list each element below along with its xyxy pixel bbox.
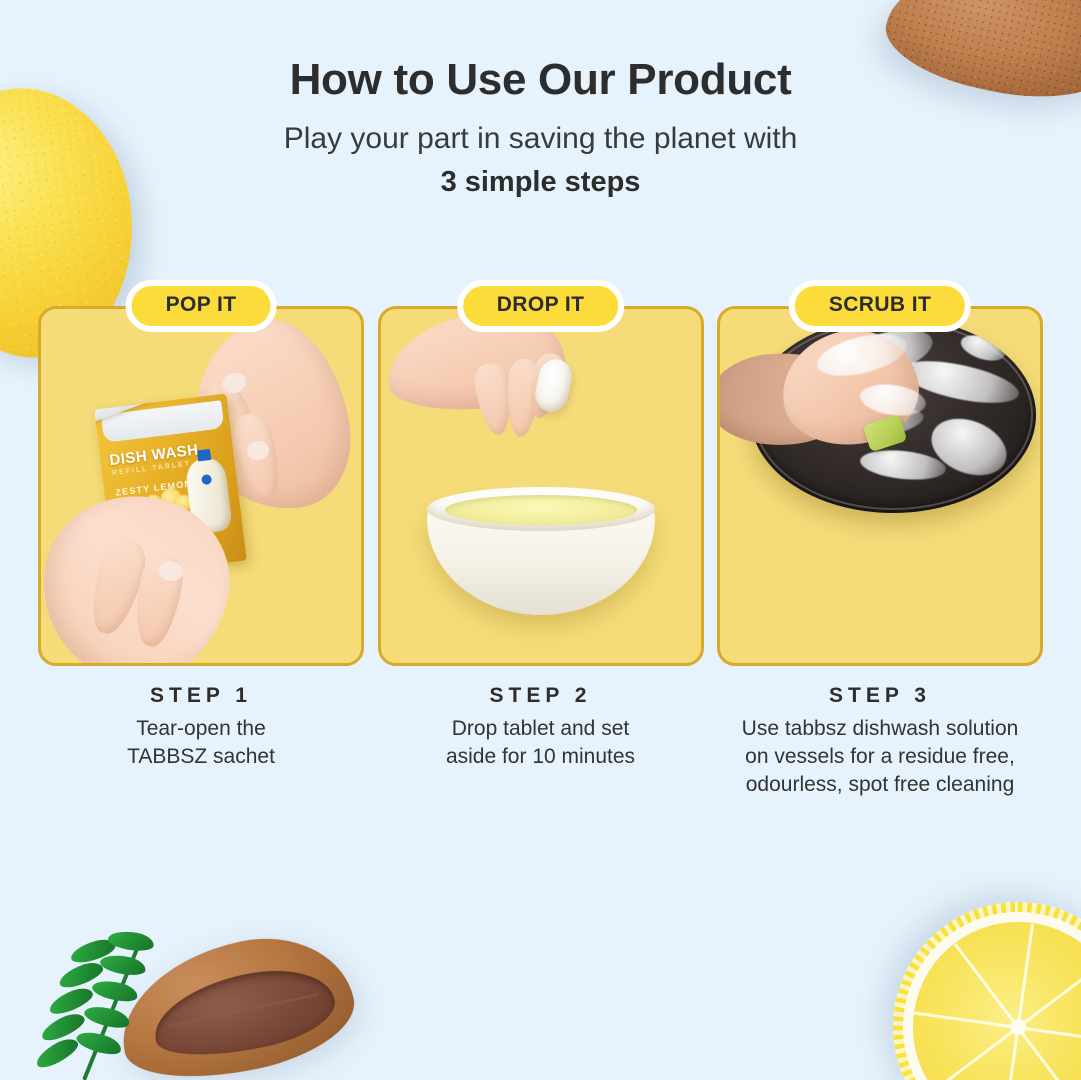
badge-scrub-it[interactable]: SCRUB IT bbox=[789, 280, 971, 332]
step-caption-1: STEP 1 Tear-open the TABBSZ sachet bbox=[38, 684, 364, 771]
step-label-1: STEP 1 bbox=[38, 684, 364, 708]
page-title: How to Use Our Product bbox=[0, 55, 1081, 106]
sachet-bottle-mark bbox=[201, 474, 212, 485]
step-image-2 bbox=[378, 306, 704, 666]
step-caption-2: STEP 2 Drop tablet and set aside for 10 … bbox=[378, 684, 704, 771]
subtitle-line-2: 3 simple steps bbox=[0, 164, 1081, 201]
step-card-1: POP IT DISH WASH REFILL TABLET ZESTY LEM… bbox=[38, 280, 364, 799]
steps-row: POP IT DISH WASH REFILL TABLET ZESTY LEM… bbox=[38, 280, 1043, 799]
lemon-slice-flesh bbox=[913, 922, 1081, 1080]
step-image-1: DISH WASH REFILL TABLET ZESTY LEMON 10 M… bbox=[38, 306, 364, 666]
lemon-slice-pith bbox=[903, 912, 1081, 1080]
badge-wrap-1: POP IT bbox=[126, 280, 277, 332]
badge-pop-it[interactable]: POP IT bbox=[126, 280, 277, 332]
poster-canvas: How to Use Our Product Play your part in… bbox=[0, 0, 1081, 1080]
step-desc-1-line-2: TABBSZ sachet bbox=[127, 745, 275, 768]
step-desc-3-line-2: on vessels for a residue free, bbox=[745, 745, 1015, 768]
step-caption-3: STEP 3 Use tabbsz dishwash solution on v… bbox=[717, 684, 1043, 799]
bowl-liquid bbox=[445, 495, 637, 525]
step-label-2: STEP 2 bbox=[378, 684, 704, 708]
leaf-stem bbox=[82, 948, 139, 1080]
lemon-slice-rind bbox=[893, 902, 1081, 1080]
bowl-rim bbox=[427, 487, 655, 531]
tamarind-shell bbox=[107, 921, 363, 1080]
tamarind-leaves-icon bbox=[30, 930, 180, 1080]
bowl-icon bbox=[427, 497, 655, 615]
poster-header: How to Use Our Product Play your part in… bbox=[0, 55, 1081, 201]
step-desc-2-line-1: Drop tablet and set bbox=[452, 717, 629, 740]
step-desc-1-line-1: Tear-open the bbox=[136, 717, 266, 740]
badge-drop-it[interactable]: DROP IT bbox=[457, 280, 625, 332]
step-desc-3-line-1: Use tabbsz dishwash solution bbox=[742, 717, 1019, 740]
step-description-3: Use tabbsz dishwash solution on vessels … bbox=[717, 715, 1043, 799]
step-desc-3-line-3: odourless, spot free cleaning bbox=[746, 773, 1015, 796]
step-label-3: STEP 3 bbox=[717, 684, 1043, 708]
step-description-1: Tear-open the TABBSZ sachet bbox=[38, 715, 364, 771]
page-subtitle: Play your part in saving the planet with… bbox=[0, 120, 1081, 202]
step-image-3 bbox=[717, 306, 1043, 666]
lemon-slice-icon bbox=[893, 902, 1081, 1080]
badge-wrap-2: DROP IT bbox=[457, 280, 625, 332]
step-description-2: Drop tablet and set aside for 10 minutes bbox=[378, 715, 704, 771]
tamarind-pulp bbox=[146, 957, 341, 1068]
subtitle-line-1: Play your part in saving the planet with bbox=[284, 122, 798, 155]
step-card-3: SCRUB IT STEP bbox=[717, 280, 1043, 799]
step-card-2: DROP IT STEP 2 Drop tablet and set bbox=[378, 280, 704, 799]
tamarind-pod-open-icon bbox=[107, 921, 363, 1080]
step-desc-2-line-2: aside for 10 minutes bbox=[446, 745, 635, 768]
badge-wrap-3: SCRUB IT bbox=[789, 280, 971, 332]
